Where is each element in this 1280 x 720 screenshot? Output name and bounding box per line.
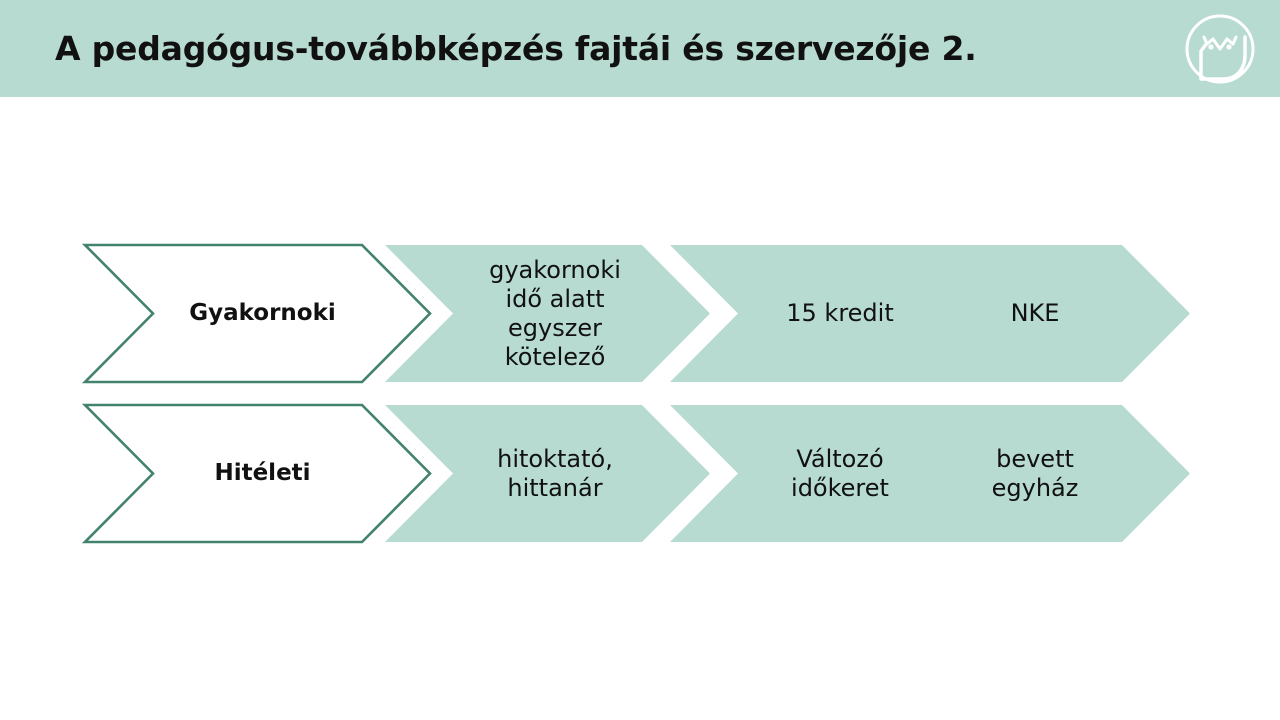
chevron-row2-step2-label: hitoktató, hittanár: [455, 405, 655, 542]
chevron-row1-step3-label: 15 kredit: [740, 245, 940, 382]
chevron-row1-step2-label: gyakornoki idő alatt egyszer kötelező: [455, 245, 655, 382]
chevron-row2-step3-label: Változó időkeret: [740, 405, 940, 542]
chevron-row2-step4-label: bevett egyház: [935, 405, 1135, 542]
chevron-row1-step1-label: Gyakornoki: [155, 245, 370, 382]
chevron-row2-step1-label: Hitéleti: [155, 405, 370, 542]
chevron-row1-step4-label: NKE: [935, 245, 1135, 382]
